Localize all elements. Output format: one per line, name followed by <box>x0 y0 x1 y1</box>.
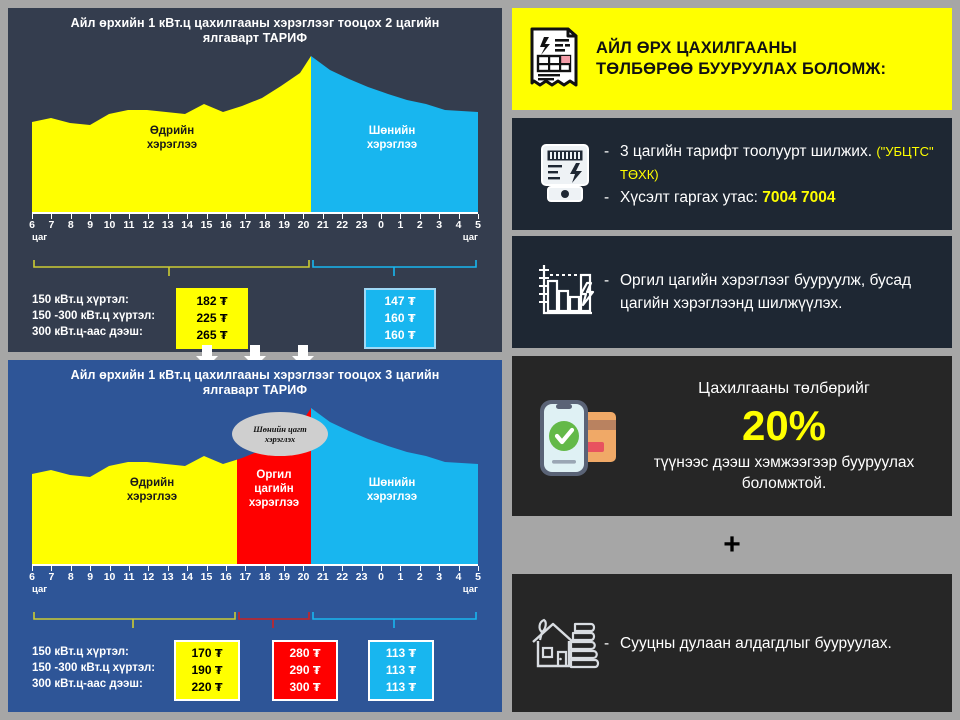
chart-top-hour-labels: 67891011121314151617181920212223012345 <box>32 219 478 233</box>
hour-tick-label: 10 <box>104 219 116 231</box>
chart-top-unit-right: цаг <box>463 232 478 243</box>
chart-bottom-braces <box>32 610 478 638</box>
currency-symbol: ₮ <box>220 312 228 325</box>
hour-tick-label: 19 <box>278 571 290 583</box>
tip-phone-label: Хүсэлт гаргах утас: <box>620 189 758 206</box>
hour-tick-label: 22 <box>336 219 348 231</box>
tip-card-discount: Цахилгааны төлбөрийг 20% түүнээс дээш хэ… <box>512 356 952 516</box>
currency-symbol: ₮ <box>313 664 321 677</box>
chart-top-title: Айл өрхийн 1 кВт.ц цахилгааны хэрэглээг … <box>8 8 502 46</box>
chart-panel-three-tariff: Айл өрхийн 1 кВт.ц цахилгааны хэрэглээг … <box>8 360 502 712</box>
currency-symbol: ₮ <box>215 647 223 660</box>
tips-header-card: АЙЛ ӨРХ ЦАХИЛГААНЫ ТӨЛБӨРӨӨ БУУРУУЛАХ БО… <box>512 8 952 110</box>
currency-symbol: ₮ <box>313 647 321 660</box>
tip-bullet: - Хүсэлт гаргах утас: 7004 7004 <box>604 186 938 209</box>
hour-tick-label: 8 <box>68 219 74 231</box>
hour-tick-label: 15 <box>201 219 213 231</box>
hour-tick-label: 23 <box>356 219 368 231</box>
currency-symbol: ₮ <box>408 329 416 342</box>
tip-card-shift-load: - Оргил цагийн хэрэглээг бууруулж, бусад… <box>512 236 952 348</box>
hour-tick-label: 10 <box>104 571 116 583</box>
bullet-dash: - <box>604 632 620 655</box>
hour-tick-label: 5 <box>475 571 481 583</box>
hour-tick-label: 16 <box>220 571 232 583</box>
phone-payment-card-icon <box>526 388 630 484</box>
hour-tick-label: 21 <box>317 219 329 231</box>
hour-tick-label: 11 <box>123 571 134 583</box>
discount-percent: 20% <box>630 402 938 450</box>
chart-bottom-plot: Шөнийн цагт хэрэглэх Өдрийн хэрэглээ Орг… <box>32 404 478 564</box>
currency-symbol: ₮ <box>215 664 223 677</box>
chart-bottom-axis: 67891011121314151617181920212223012345 ц… <box>32 564 478 594</box>
chart-bottom-unit-right: цаг <box>463 584 478 595</box>
hour-tick-label: 4 <box>456 571 462 583</box>
hour-tick-label: 11 <box>123 219 134 231</box>
bar-chart-lightning-icon <box>526 261 604 323</box>
chart-top-area-svg <box>32 52 478 212</box>
tip-card-shift-load-body: - Оргил цагийн хэрэглээг бууруулж, бусад… <box>604 269 938 315</box>
chart-bottom-title: Айл өрхийн 1 кВт.ц цахилгааны хэрэглээг … <box>8 360 502 398</box>
currency-symbol: ₮ <box>408 312 416 325</box>
tip-card-insulation: - Сууцны дулаан алдагдлыг бууруулах. <box>512 574 952 712</box>
hour-tick-label: 14 <box>181 219 193 231</box>
chart-top-unit-left: цаг <box>32 232 47 243</box>
chart-bottom-tariff-table: 150 кВт.ц хүртэл: 150 -300 кВт.ц хүртэл:… <box>32 640 478 700</box>
hour-tick-label: 3 <box>436 219 442 231</box>
hour-tick-label: 14 <box>181 571 193 583</box>
hour-tick-label: 8 <box>68 571 74 583</box>
hour-tick-label: 9 <box>87 571 93 583</box>
chart-top-brace-svg <box>32 258 478 284</box>
discount-bottom-text: түүнээс дээш хэмжээгээр бууруулах боломж… <box>630 452 938 494</box>
right-column: АЙЛ ӨРХ ЦАХИЛГААНЫ ТӨЛБӨРӨӨ БУУРУУЛАХ БО… <box>512 8 952 712</box>
currency-symbol: ₮ <box>409 681 417 694</box>
hour-tick-label: 12 <box>143 219 155 231</box>
chart-bottom-brace-svg <box>32 610 478 636</box>
chart-panel-two-tariff: Айл өрхийн 1 кВт.ц цахилгааны хэрэглээг … <box>8 8 502 352</box>
tips-header-text: АЙЛ ӨРХ ЦАХИЛГААНЫ ТӨЛБӨРӨӨ БУУРУУЛАХ БО… <box>596 38 886 80</box>
hour-tick-label: 20 <box>298 571 310 583</box>
tip-card-discount-body: Цахилгааны төлбөрийг 20% түүнээс дээш хэ… <box>630 378 938 494</box>
chart-top-plot: Өдрийн хэрэглээ Шөнийн хэрэглээ <box>32 52 478 212</box>
hour-tick-label: 16 <box>220 219 232 231</box>
currency-symbol: ₮ <box>215 681 223 694</box>
chart-top-axis: 67891011121314151617181920212223012345 ц… <box>32 212 478 242</box>
hour-tick-label: 2 <box>417 219 423 231</box>
hour-tick-label: 19 <box>278 219 290 231</box>
electricity-meter-icon <box>526 141 604 207</box>
plus-icon: + <box>723 530 741 560</box>
chart-bottom-price-peak: 280 ₮ 290 ₮ 300 ₮ <box>272 640 338 701</box>
infographic-root: Айл өрхийн 1 кВт.ц цахилгааны хэрэглээг … <box>0 0 960 720</box>
hour-tick-label: 0 <box>378 571 384 583</box>
hour-tick-label: 1 <box>398 571 404 583</box>
tip-meter-text: 3 цагийн тарифт тоолуурт шилжих. <box>620 143 872 160</box>
hour-tick-label: 5 <box>475 219 481 231</box>
hour-tick-label: 4 <box>456 219 462 231</box>
chart-top-price-day: 182 ₮ 225 ₮ 265 ₮ <box>176 288 248 349</box>
chart-top-price-night: 147 ₮ 160 ₮ 160 ₮ <box>364 288 436 349</box>
tip-card-meter-body: - 3 цагийн тарифт тоолуурт шилжих. ("УБЦ… <box>604 140 938 209</box>
bullet-dash: - <box>604 186 620 209</box>
currency-symbol: ₮ <box>220 295 228 308</box>
hour-tick-label: 3 <box>436 571 442 583</box>
currency-symbol: ₮ <box>408 295 416 308</box>
hour-tick-label: 22 <box>336 571 348 583</box>
hour-tick-label: 20 <box>298 219 310 231</box>
tip-bullet: - Оргил цагийн хэрэглээг бууруулж, бусад… <box>604 269 938 315</box>
chart-bottom-price-day: 170 ₮ 190 ₮ 220 ₮ <box>174 640 240 701</box>
hour-tick-label: 6 <box>29 219 35 231</box>
hour-tick-label: 7 <box>48 219 54 231</box>
tip-bullet: - Сууцны дулаан алдагдлыг бууруулах. <box>604 632 938 655</box>
hour-tick-label: 21 <box>317 571 329 583</box>
hour-tick-label: 7 <box>48 571 54 583</box>
chart-bottom-tier-labels: 150 кВт.ц хүртэл: 150 -300 кВт.ц хүртэл:… <box>32 644 155 692</box>
hour-tick-label: 23 <box>356 571 368 583</box>
hour-tick-label: 0 <box>378 219 384 231</box>
chart-top-braces <box>32 258 478 286</box>
hour-tick-label: 6 <box>29 571 35 583</box>
chart-bottom-unit-left: цаг <box>32 584 47 595</box>
hour-tick-label: 18 <box>259 219 271 231</box>
tip-shift-load-text: Оргил цагийн хэрэглээг бууруулж, бусад ц… <box>620 269 938 315</box>
hour-tick-label: 13 <box>162 219 174 231</box>
hour-tick-label: 1 <box>398 219 404 231</box>
hour-tick-label: 9 <box>87 219 93 231</box>
currency-symbol: ₮ <box>313 681 321 694</box>
hour-tick-label: 2 <box>417 571 423 583</box>
tip-insulation-text: Сууцны дулаан алдагдлыг бууруулах. <box>620 632 938 655</box>
hour-tick-label: 12 <box>143 571 155 583</box>
hour-tick-label: 17 <box>239 219 251 231</box>
bullet-dash: - <box>604 140 620 163</box>
currency-symbol: ₮ <box>409 664 417 677</box>
currency-symbol: ₮ <box>220 329 228 342</box>
chart-top-tariff-table: 150 кВт.ц хүртэл: 150 -300 кВт.ц хүртэл:… <box>32 288 478 348</box>
currency-symbol: ₮ <box>409 647 417 660</box>
eco-house-icon <box>526 612 604 674</box>
hour-tick-label: 15 <box>201 571 213 583</box>
hour-tick-label: 17 <box>239 571 251 583</box>
chart-bottom-hour-labels: 67891011121314151617181920212223012345 <box>32 571 478 585</box>
bullet-dash: - <box>604 269 620 292</box>
hour-tick-label: 18 <box>259 571 271 583</box>
night-usage-callout: Шөнийн цагт хэрэглэх <box>232 412 328 456</box>
chart-bottom-price-night: 113 ₮ 113 ₮ 113 ₮ <box>368 640 434 701</box>
receipt-electricity-icon <box>526 25 582 94</box>
tip-card-insulation-body: - Сууцны дулаан алдагдлыг бууруулах. <box>604 632 938 655</box>
tip-card-meter: - 3 цагийн тарифт тоолуурт шилжих. ("УБЦ… <box>512 118 952 230</box>
chart-top-tier-labels: 150 кВт.ц хүртэл: 150 -300 кВт.ц хүртэл:… <box>32 292 155 340</box>
discount-top-text: Цахилгааны төлбөрийг <box>630 378 938 400</box>
tip-bullet: - 3 цагийн тарифт тоолуурт шилжих. ("УБЦ… <box>604 140 938 186</box>
plus-separator: + <box>512 522 952 568</box>
hour-tick-label: 13 <box>162 571 174 583</box>
tip-phone-number: 7004 7004 <box>762 189 835 206</box>
left-column: Айл өрхийн 1 кВт.ц цахилгааны хэрэглээг … <box>8 8 502 712</box>
